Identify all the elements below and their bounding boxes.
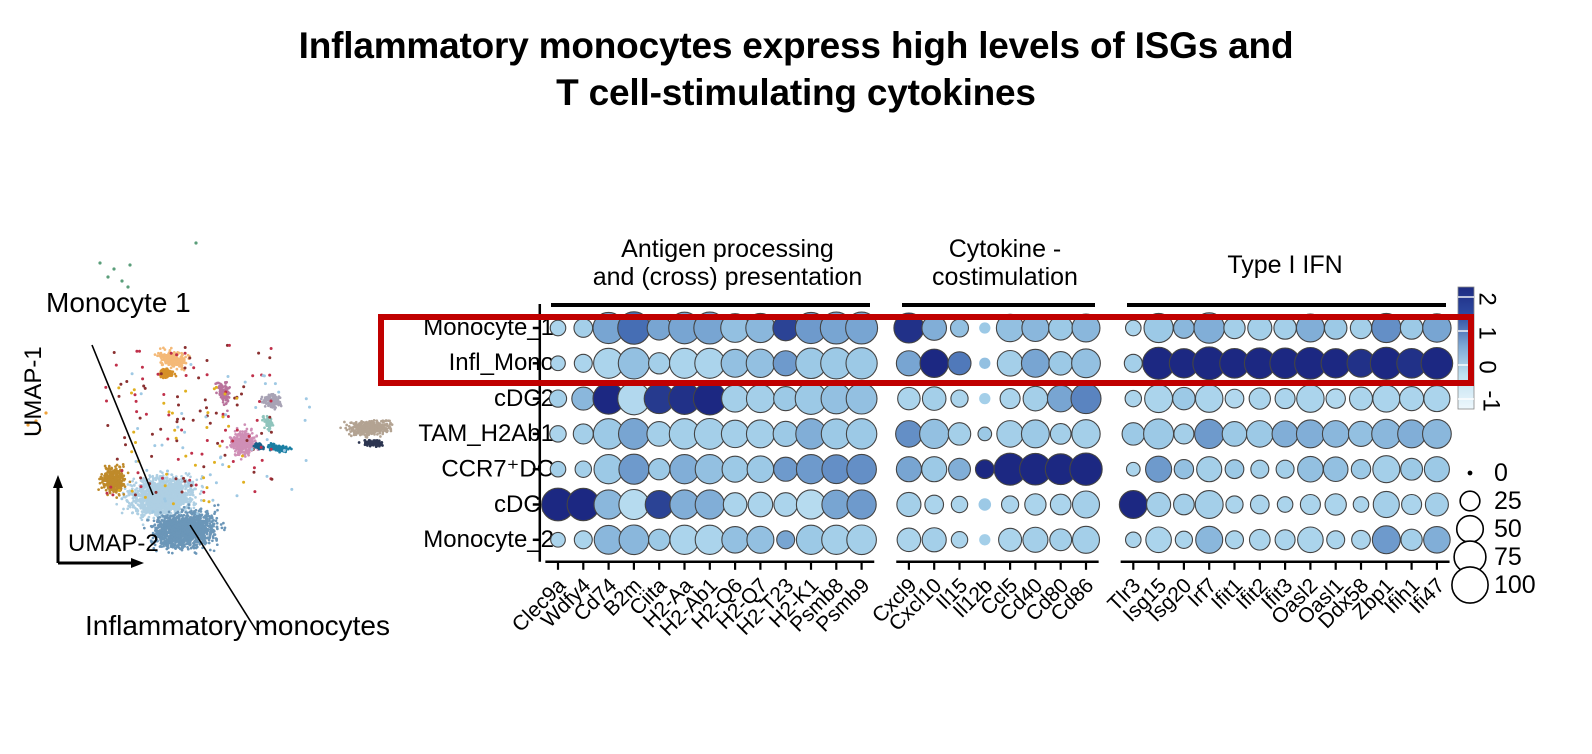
dot-cDC2-Il15 — [951, 390, 968, 407]
dot-CCR7⁺DC-Oasl1 — [1323, 457, 1348, 482]
dot-Monocyte_1-Ciita — [647, 316, 671, 340]
size-legend-dot-50 — [1457, 516, 1484, 543]
dot-Infl_Mono-Il12b — [979, 358, 990, 369]
dot-Infl_Mono-Wdfy4 — [574, 354, 592, 372]
dot-cDC1-Oasl1 — [1325, 494, 1346, 515]
dot-cDC1-Isg20 — [1174, 494, 1195, 515]
figure-root: Inflammatory monocytes express high leve… — [0, 0, 1592, 754]
dot-CCR7⁺DC-Clec9a — [550, 461, 566, 477]
dot-TAM_H2Ab1-Cd40 — [1021, 420, 1049, 448]
dot-cDC2-Isg15 — [1145, 385, 1173, 413]
dot-CCR7⁺DC-Isg20 — [1174, 460, 1193, 479]
dot-CCR7⁺DC-Ifit1 — [1225, 460, 1244, 479]
size-legend-label-0: 0 — [1494, 459, 1508, 488]
dot-CCR7⁺DC-H2-Ab1 — [695, 455, 724, 484]
dot-cDC2-Cxcl9 — [898, 387, 920, 409]
dot-CCR7⁺DC-H2-T23 — [774, 457, 798, 481]
dot-Monocyte_1-Clec9a — [550, 320, 566, 336]
dot-TAM_H2Ab1-Cxcl9 — [896, 421, 923, 448]
dot-cDC1-Ifih1 — [1402, 494, 1422, 514]
dot-Infl_Mono-Cd40 — [1021, 349, 1049, 377]
dot-TAM_H2Ab1-Irf7 — [1195, 419, 1224, 448]
dot-Infl_Mono-Oasl1 — [1321, 349, 1350, 378]
dot-Monocyte_1-Cxcl10 — [922, 316, 947, 341]
dot-Monocyte_1-Ccl5 — [996, 314, 1023, 341]
size-legend-dot-25 — [1460, 491, 1480, 511]
dot-cDC1-Ciita — [645, 491, 673, 519]
dot-cDC1-H2-Q7 — [748, 492, 773, 517]
dot-TAM_H2Ab1-Il12b — [978, 427, 992, 441]
dot-cDC1-Il15 — [951, 496, 967, 512]
dot-TAM_H2Ab1-Ifit1 — [1222, 422, 1247, 447]
dot-CCR7⁺DC-Ifit3 — [1276, 460, 1294, 478]
dot-cDC2-Irf7 — [1195, 385, 1222, 412]
dot-Infl_Mono-Cxcl9 — [896, 351, 921, 376]
dot-cDC2-Zbp1 — [1373, 385, 1400, 412]
dot-cDC2-Ifit1 — [1225, 389, 1244, 408]
dot-cDC2-Cd80 — [1047, 385, 1074, 412]
dot-Monocyte_1-Cd86 — [1072, 314, 1100, 342]
dot-Infl_Mono-Psmb9 — [846, 348, 877, 379]
dot-cDC2-Ccl5 — [1000, 389, 1020, 409]
dot-cDC2-Ifit3 — [1275, 389, 1295, 409]
dot-Monocyte_2-Clec9a — [551, 532, 566, 547]
dot-TAM_H2Ab1-Ifih1 — [1398, 420, 1426, 448]
dot-TAM_H2Ab1-Cd80 — [1050, 424, 1071, 445]
dot-matrix — [542, 312, 1453, 555]
dot-Monocyte_1-Il15 — [951, 319, 969, 337]
dot-TAM_H2Ab1-Psmb9 — [846, 419, 876, 449]
dot-CCR7⁺DC-Cd86 — [1070, 453, 1102, 485]
dot-Infl_Mono-Cd80 — [1049, 352, 1073, 376]
dot-Monocyte_1-H2-Q7 — [746, 313, 775, 342]
colorbar-tick-2: 2 — [1473, 292, 1501, 305]
title-line-2: T cell-stimulating cytokines — [0, 69, 1592, 116]
dot-Monocyte_2-B2m — [619, 525, 649, 555]
dot-Infl_Mono-Clec9a — [551, 356, 566, 371]
dot-Monocyte_2-H2-T23 — [777, 531, 795, 549]
dot-Infl_Mono-Cd86 — [1072, 349, 1101, 378]
dot-cDC1-H2-K1 — [796, 490, 825, 519]
dot-TAM_H2Ab1-Isg20 — [1174, 424, 1194, 444]
dot-cDC1-Ddx58 — [1353, 497, 1369, 513]
dot-cDC2-H2-Q6 — [722, 385, 749, 412]
dot-Monocyte_1-Ifih1 — [1400, 317, 1422, 339]
dot-cDC2-Il12b — [979, 393, 990, 404]
dot-Monocyte_2-H2-Ab1 — [695, 525, 724, 554]
dot-Monocyte_2-Wdfy4 — [574, 531, 592, 549]
dot-cDC2-Oasl2 — [1297, 385, 1324, 412]
dot-cDC1-H2-Ab1 — [695, 490, 724, 519]
dot-Monocyte_1-B2m — [618, 312, 650, 344]
umap-annotation-monocyte1: Monocyte 1 — [46, 287, 191, 319]
dot-cDC1-Cd80 — [1050, 494, 1071, 515]
figure-title: Inflammatory monocytes express high leve… — [0, 22, 1592, 117]
dot-Infl_Mono-B2m — [618, 348, 649, 379]
dot-CCR7⁺DC-Cxcl9 — [896, 457, 921, 482]
dot-TAM_H2Ab1-Ddx58 — [1348, 421, 1373, 446]
dot-TAM_H2Ab1-H2-Ab1 — [694, 419, 725, 450]
dot-Monocyte_1-Ddx58 — [1350, 317, 1371, 338]
size-legend-dot-0 — [1468, 471, 1471, 474]
size-legend-label-25: 25 — [1494, 487, 1522, 516]
dot-TAM_H2Ab1-H2-Q6 — [721, 420, 748, 447]
dot-Monocyte_1-Ifi47 — [1423, 314, 1451, 342]
dot-cDC1-Cxcl9 — [897, 492, 921, 516]
dot-Infl_Mono-H2-Ab1 — [695, 348, 725, 378]
dot-cDC1-B2m — [619, 490, 649, 520]
dot-Monocyte_2-Zbp1 — [1372, 526, 1400, 554]
size-legend-label-50: 50 — [1494, 515, 1522, 544]
dot-Monocyte_2-Cxcl10 — [922, 528, 946, 552]
dot-Monocyte_1-Cxcl9 — [894, 313, 924, 343]
dot-cDC2-Oasl1 — [1326, 389, 1345, 408]
size-legend-dot-100 — [1452, 567, 1488, 603]
dot-cDC2-Ifih1 — [1400, 387, 1424, 411]
dot-TAM_H2Ab1-Ifi47 — [1423, 420, 1452, 449]
dot-Infl_Mono-Tlr3 — [1124, 354, 1142, 372]
dot-CCR7⁺DC-H2-K1 — [796, 455, 825, 484]
dot-cDC1-Oasl2 — [1300, 494, 1320, 514]
dot-Infl_Mono-H2-T23 — [773, 351, 798, 376]
dot-Monocyte_1-Il12b — [979, 322, 990, 333]
dot-Monocyte_1-Tlr3 — [1126, 320, 1142, 336]
dot-Monocyte_2-Il15 — [951, 532, 967, 548]
dot-Monocyte_1-Oasl1 — [1324, 317, 1346, 339]
dot-Monocyte_2-Cd80 — [1050, 529, 1072, 551]
dot-Monocyte_1-H2-T23 — [773, 315, 799, 341]
dot-CCR7⁺DC-Ddx58 — [1351, 460, 1370, 479]
dot-CCR7⁺DC-Ifi47 — [1424, 457, 1449, 482]
dot-TAM_H2Ab1-Tlr3 — [1122, 423, 1144, 445]
dot-cDC1-Zbp1 — [1373, 491, 1399, 517]
dot-cDC2-Ifit2 — [1249, 388, 1270, 409]
dot-TAM_H2Ab1-Oasl2 — [1296, 420, 1324, 448]
dot-cDC2-H2-Q7 — [746, 385, 774, 413]
dot-TAM_H2Ab1-Clec9a — [550, 426, 566, 442]
dot-cDC1-Cd40 — [1025, 494, 1046, 515]
dot-cDC2-Cd86 — [1071, 384, 1101, 414]
umap-y-axis-label: UMAP-1 — [20, 346, 48, 437]
dot-cDC2-Isg20 — [1173, 387, 1195, 409]
dot-cDC2-Psmb9 — [846, 383, 877, 414]
dot-Monocyte_2-Oasl2 — [1298, 527, 1324, 553]
umap-annotation-inflammatory-monocytes: Inflammatory monocytes — [85, 610, 390, 642]
dot-cDC1-H2-Q6 — [723, 493, 747, 517]
dot-CCR7⁺DC-B2m — [619, 454, 649, 484]
dot-Monocyte_2-Ifit1 — [1226, 531, 1244, 549]
dot-Monocyte_2-Ifih1 — [1401, 529, 1422, 550]
dot-cDC2-Ddx58 — [1350, 387, 1373, 410]
dot-Infl_Mono-Cxcl10 — [920, 349, 948, 377]
dot-cDC1-Tlr3 — [1119, 491, 1147, 519]
dot-cDC1-Ifit3 — [1277, 497, 1293, 513]
dotplot-panel: Antigen processing and (cross) presentat… — [380, 225, 1590, 665]
dot-cDC2-H2-T23 — [774, 387, 798, 411]
dot-TAM_H2Ab1-H2-Q7 — [746, 420, 774, 448]
dot-Monocyte_2-Irf7 — [1196, 526, 1223, 553]
dot-Monocyte_1-Ifit3 — [1274, 317, 1296, 339]
size-legend — [1452, 471, 1488, 603]
dot-cDC1-Psmb9 — [847, 490, 876, 519]
dot-Monocyte_2-Oasl1 — [1327, 531, 1345, 549]
dot-TAM_H2Ab1-Isg15 — [1144, 419, 1174, 449]
dot-cDC2-Clec9a — [549, 390, 566, 407]
dot-Monocyte_2-Ifit3 — [1275, 530, 1295, 550]
dot-CCR7⁺DC-Ciita — [649, 459, 670, 480]
dot-CCR7⁺DC-Zbp1 — [1373, 456, 1400, 483]
dot-Monocyte_2-Ddx58 — [1352, 530, 1371, 549]
dot-cDC1-Isg15 — [1147, 492, 1171, 516]
dot-CCR7⁺DC-Il15 — [949, 458, 971, 480]
dot-TAM_H2Ab1-B2m — [619, 419, 650, 450]
dot-Monocyte_2-Isg20 — [1175, 531, 1192, 548]
dot-Monocyte_2-H2-Q7 — [747, 526, 774, 553]
colorbar-tick--1: -1 — [1477, 390, 1505, 411]
dot-TAM_H2Ab1-Oasl1 — [1322, 421, 1349, 448]
dot-CCR7⁺DC-Ifih1 — [1401, 458, 1423, 480]
dot-Monocyte_1-Ifit2 — [1248, 316, 1272, 340]
dot-cDC1-Psmb8 — [822, 490, 851, 519]
dot-Monocyte_1-Psmb9 — [846, 312, 878, 344]
dot-TAM_H2Ab1-Ccl5 — [997, 421, 1024, 448]
dot-Monocyte_2-Cxcl9 — [897, 528, 921, 552]
dot-TAM_H2Ab1-Ifit2 — [1247, 421, 1274, 448]
color-bar — [1458, 287, 1474, 409]
colorbar-tick-1: 1 — [1473, 326, 1501, 339]
dot-Monocyte_2-Ccl5 — [999, 528, 1022, 551]
dot-cDC1-Irf7 — [1195, 491, 1223, 519]
dot-Monocyte_1-H2-Q6 — [721, 314, 750, 343]
dot-CCR7⁺DC-Isg15 — [1146, 456, 1172, 482]
umap-x-axis-label: UMAP-2 — [68, 530, 159, 558]
dot-CCR7⁺DC-Psmb9 — [847, 454, 877, 484]
dot-Infl_Mono-H2-Q6 — [721, 349, 749, 377]
dot-cDC1-Il12b — [979, 498, 992, 511]
dot-cDC1-H2-T23 — [774, 493, 798, 517]
dot-CCR7⁺DC-Wdfy4 — [575, 461, 591, 477]
dot-Monocyte_2-Isg15 — [1146, 527, 1172, 553]
dot-TAM_H2Ab1-Zbp1 — [1372, 419, 1401, 448]
dot-Monocyte_1-Ifit1 — [1224, 317, 1245, 338]
dot-cDC2-Cxcl10 — [922, 387, 946, 411]
dot-Monocyte_1-Zbp1 — [1372, 313, 1401, 342]
dot-Monocyte_1-Cd40 — [1022, 315, 1049, 342]
dot-Monocyte_2-Cd86 — [1073, 526, 1100, 553]
dot-cDC1-Ifi47 — [1425, 493, 1448, 516]
dot-Monocyte_2-Il12b — [979, 534, 990, 545]
dot-cDC1-Ccl5 — [1002, 496, 1019, 513]
dot-TAM_H2Ab1-Cd86 — [1072, 420, 1100, 448]
dot-Monocyte_2-Tlr3 — [1126, 532, 1142, 548]
dot-cDC2-Tlr3 — [1125, 390, 1141, 406]
dot-CCR7⁺DC-H2-Q7 — [747, 456, 774, 483]
title-line-1: Inflammatory monocytes express high leve… — [0, 22, 1592, 69]
dot-cDC2-Ifi47 — [1424, 386, 1450, 412]
dot-cDC1-Cd86 — [1073, 491, 1100, 518]
size-legend-label-100: 100 — [1494, 571, 1536, 600]
dot-TAM_H2Ab1-Wdfy4 — [573, 424, 593, 444]
dot-CCR7⁺DC-H2-Q6 — [722, 456, 748, 482]
dot-CCR7⁺DC-Cxcl10 — [922, 457, 947, 482]
dot-Monocyte_1-Wdfy4 — [574, 319, 593, 338]
dot-CCR7⁺DC-Il12b — [975, 460, 994, 479]
color-legend — [1458, 287, 1474, 409]
dot-TAM_H2Ab1-Il15 — [948, 423, 970, 445]
dot-Monocyte_2-Ifit2 — [1249, 529, 1270, 550]
dot-TAM_H2Ab1-Ifit3 — [1272, 421, 1298, 447]
dot-cDC1-Cxcl10 — [925, 495, 944, 514]
dot-Monocyte_2-Ciita — [649, 529, 670, 550]
dot-CCR7⁺DC-Ifit2 — [1251, 460, 1269, 478]
dot-Monocyte_1-Cd80 — [1049, 316, 1073, 340]
dot-TAM_H2Ab1-Ciita — [647, 422, 672, 447]
dot-CCR7⁺DC-Tlr3 — [1126, 462, 1140, 476]
size-legend-label-75: 75 — [1494, 543, 1522, 572]
colorbar-tick-0: 0 — [1473, 360, 1501, 373]
dot-Monocyte_1-Isg15 — [1144, 313, 1173, 342]
dot-CCR7⁺DC-Irf7 — [1197, 457, 1222, 482]
dot-Monocyte_1-Irf7 — [1194, 313, 1224, 343]
dot-CCR7⁺DC-Oasl2 — [1298, 456, 1324, 482]
dot-cDC2-Cd40 — [1023, 386, 1048, 411]
dot-Infl_Mono-Ccl5 — [997, 351, 1023, 377]
dot-Infl_Mono-Il15 — [948, 352, 971, 375]
dot-cDC1-Ifit1 — [1226, 496, 1243, 513]
dot-Infl_Mono-H2-Q7 — [746, 349, 774, 377]
dot-Monocyte_2-Cd40 — [1023, 527, 1048, 552]
dot-Infl_Mono-Ifi47 — [1421, 348, 1453, 380]
dot-Monocyte_1-Isg20 — [1174, 318, 1195, 339]
dot-Monocyte_2-H2-Q6 — [722, 527, 749, 554]
dot-Monocyte_2-Ifi47 — [1424, 527, 1451, 554]
dot-TAM_H2Ab1-H2-T23 — [773, 421, 798, 446]
dot-Monocyte_1-Oasl2 — [1296, 314, 1324, 342]
dot-Infl_Mono-Ciita — [649, 353, 670, 374]
dot-Monocyte_2-Psmb9 — [847, 525, 877, 555]
dot-TAM_H2Ab1-Cxcl10 — [920, 419, 949, 448]
dot-cDC2-Wdfy4 — [572, 387, 595, 410]
dot-cDC1-Ifit2 — [1250, 495, 1269, 514]
